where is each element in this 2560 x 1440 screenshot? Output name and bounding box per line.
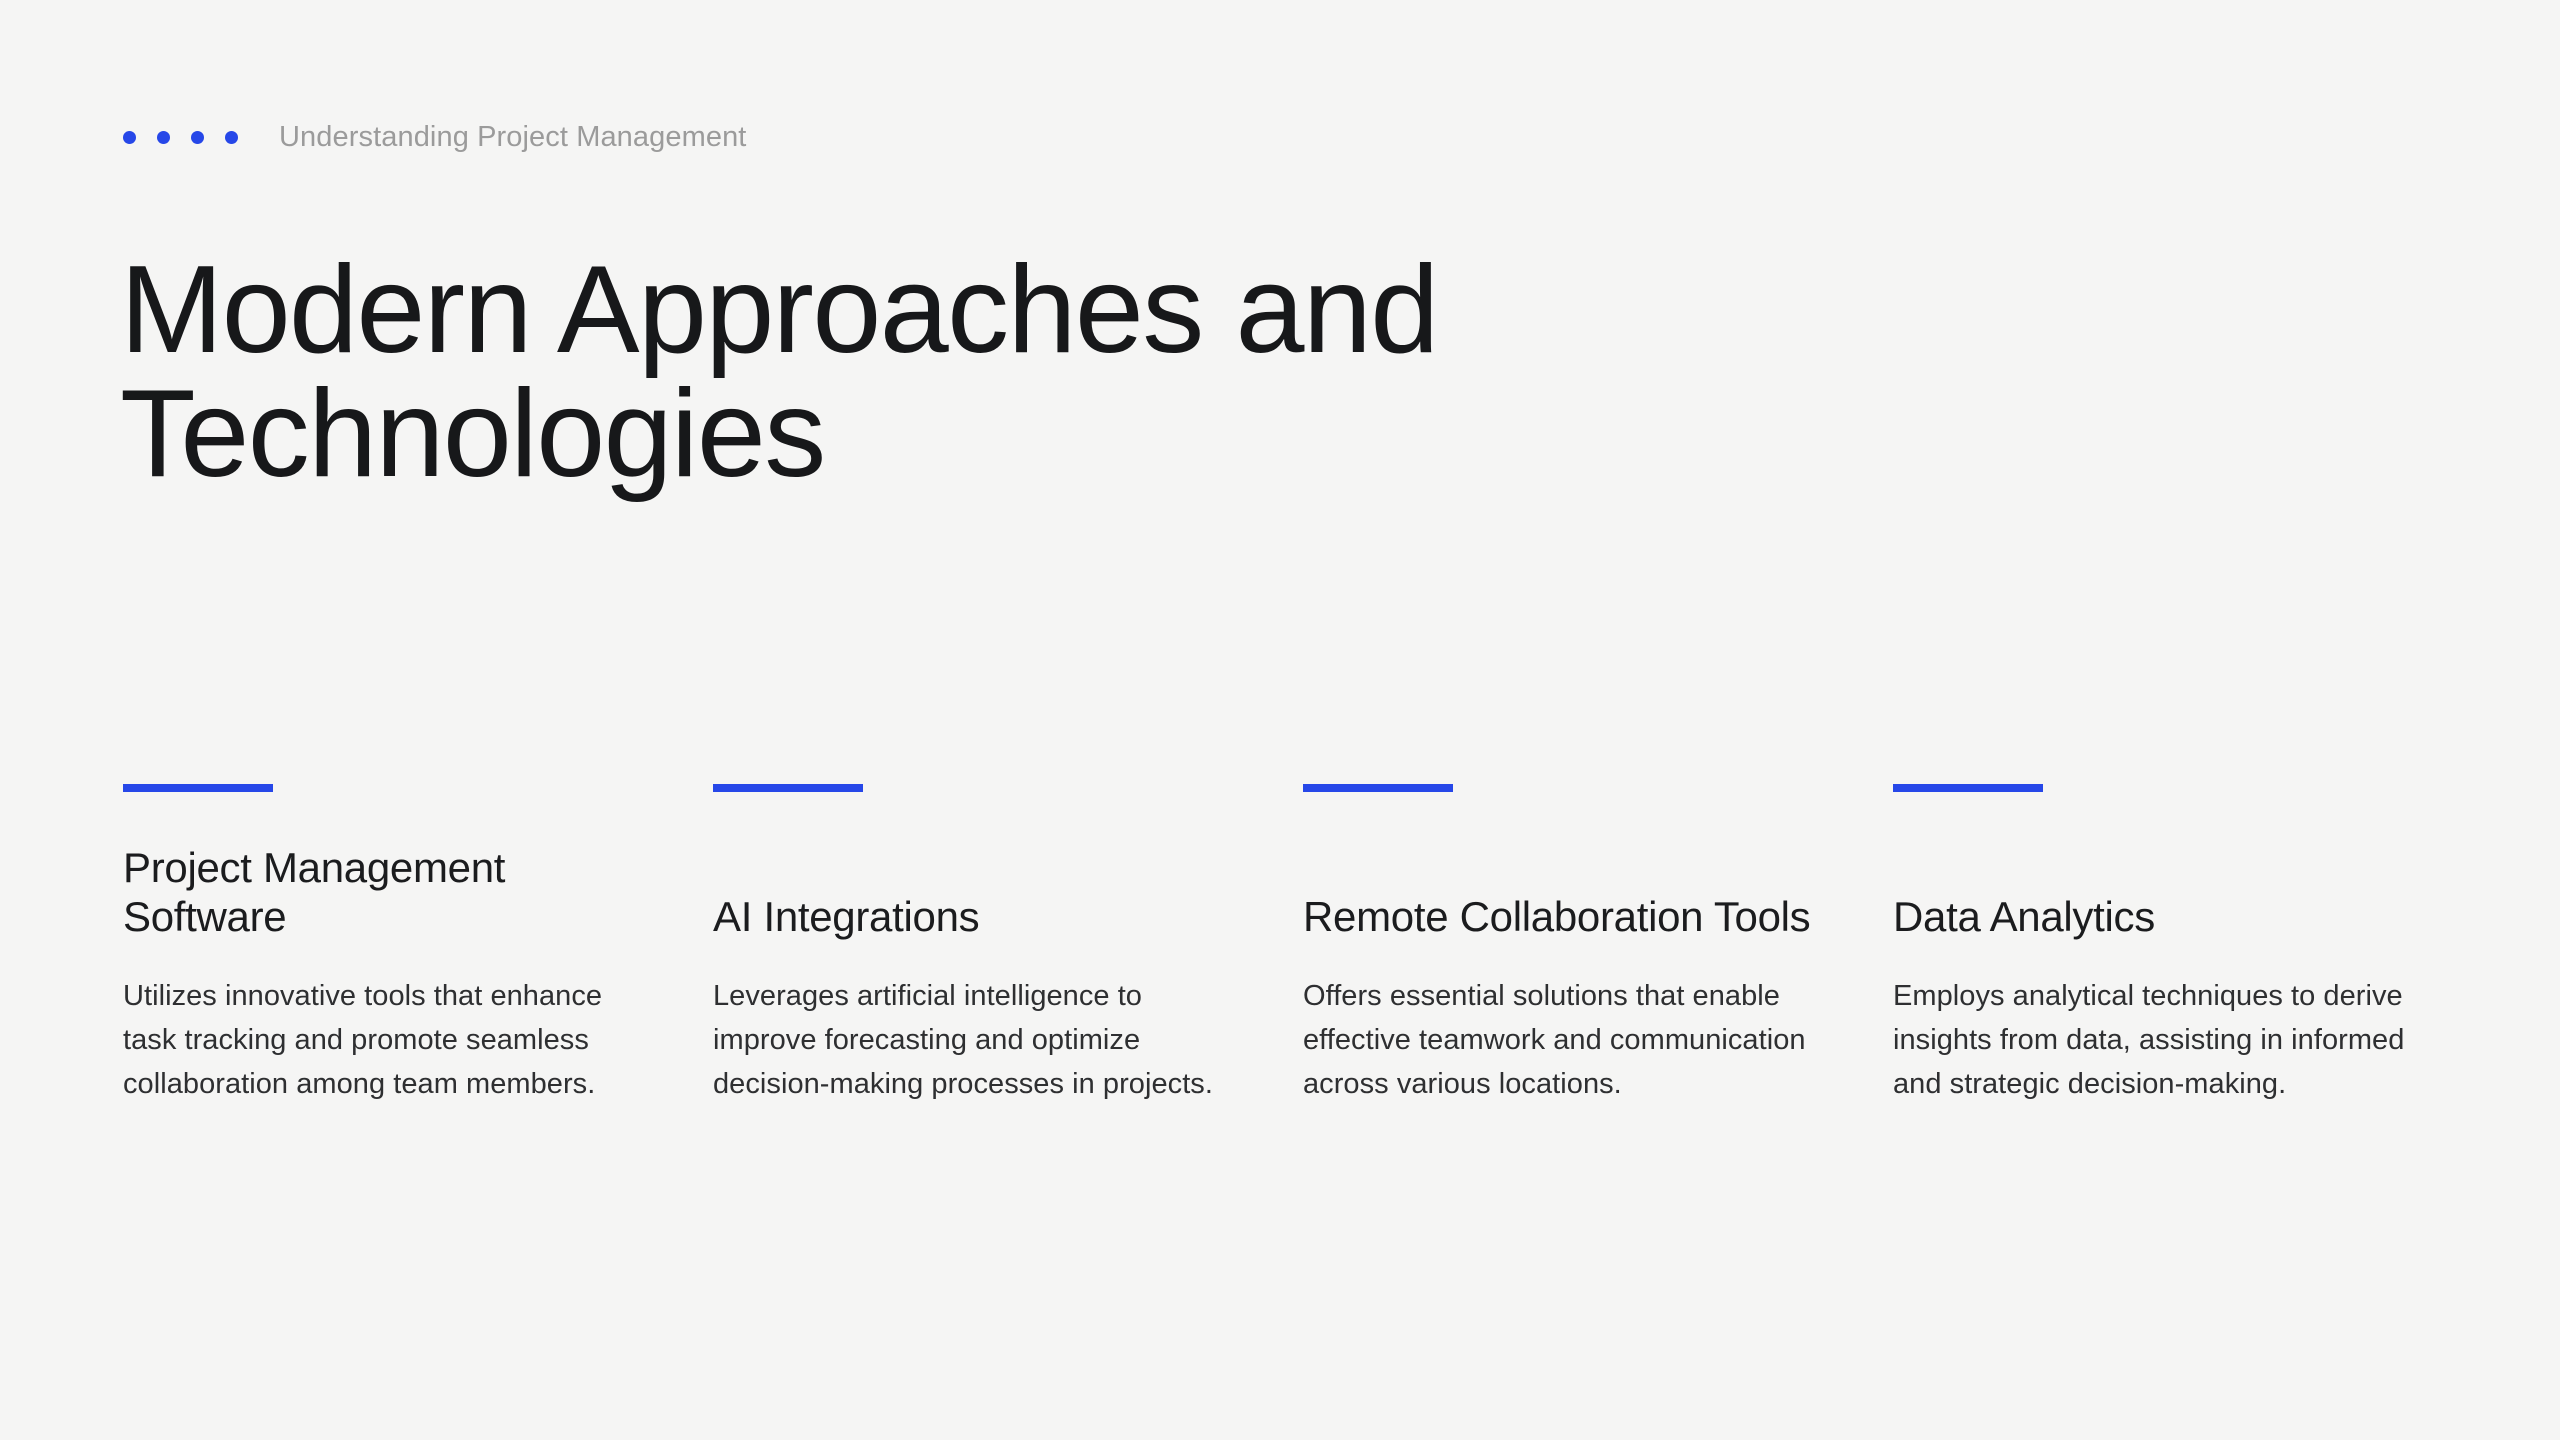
accent-bar	[1893, 784, 2043, 792]
dot-group-icon	[123, 131, 238, 144]
feature-title-wrap: Data Analytics	[1893, 820, 2423, 942]
eyebrow-label: Understanding Project Management	[279, 122, 746, 152]
feature-column: Remote Collaboration Tools Offers essent…	[1303, 784, 1893, 1106]
dot-icon	[191, 131, 204, 144]
feature-title: Remote Collaboration Tools	[1303, 892, 1833, 942]
feature-body: Utilizes innovative tools that enhance t…	[123, 974, 653, 1106]
feature-title-wrap: Project Management Software	[123, 820, 653, 942]
feature-column: Project Management Software Utilizes inn…	[123, 784, 713, 1106]
page-title: Modern Approaches and Technologies	[120, 248, 1820, 496]
feature-column: AI Integrations Leverages artificial int…	[713, 784, 1303, 1106]
dot-icon	[157, 131, 170, 144]
page-title-line-2: Technologies	[120, 372, 1820, 496]
feature-body: Employs analytical techniques to derive …	[1893, 974, 2423, 1106]
dot-icon	[123, 131, 136, 144]
feature-title: Data Analytics	[1893, 892, 2423, 942]
accent-bar	[713, 784, 863, 792]
feature-title: Project Management Software	[123, 843, 653, 942]
eyebrow-row: Understanding Project Management	[123, 122, 746, 152]
feature-title-wrap: Remote Collaboration Tools	[1303, 820, 1833, 942]
accent-bar	[123, 784, 273, 792]
feature-title: AI Integrations	[713, 892, 1243, 942]
dot-icon	[225, 131, 238, 144]
slide-root: Understanding Project Management Modern …	[0, 0, 2560, 1440]
feature-body: Offers essential solutions that enable e…	[1303, 974, 1833, 1106]
feature-body: Leverages artificial intelligence to imp…	[713, 974, 1243, 1106]
feature-columns: Project Management Software Utilizes inn…	[123, 784, 2443, 1106]
accent-bar	[1303, 784, 1453, 792]
feature-title-wrap: AI Integrations	[713, 820, 1243, 942]
feature-column: Data Analytics Employs analytical techni…	[1893, 784, 2483, 1106]
page-title-line-1: Modern Approaches and	[120, 248, 1820, 372]
